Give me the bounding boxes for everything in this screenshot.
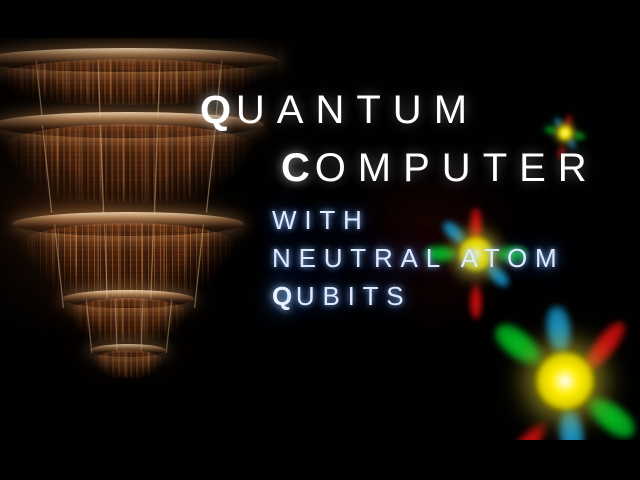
title-rest-computer: OMPUTER (315, 146, 599, 190)
title-cap-q: Q (200, 88, 236, 132)
letterbox-bar-bottom (0, 440, 640, 480)
subtitle-line-with: WITH (272, 205, 370, 236)
title-block: QUANTUM COMPUTER WITH NEUTRAL ATOM QUBIT… (0, 38, 640, 440)
subtitle-text-with: WITH (272, 205, 370, 235)
title-rest-quantum: UANTUM (236, 88, 479, 132)
subtitle-cap-q: Q (272, 281, 296, 311)
video-thumbnail: QUANTUM COMPUTER WITH NEUTRAL ATOM QUBIT… (0, 0, 640, 480)
subtitle-line-neutral-atom: NEUTRAL ATOM (272, 243, 565, 274)
scene: QUANTUM COMPUTER WITH NEUTRAL ATOM QUBIT… (0, 38, 640, 440)
subtitle-line-qubits: QUBITS (272, 281, 411, 312)
subtitle-rest-qubits: UBITS (296, 281, 412, 311)
title-line-computer: COMPUTER (281, 146, 599, 191)
title-line-quantum: QUANTUM (200, 88, 479, 133)
letterbox-bar-top (0, 0, 640, 38)
title-cap-c: C (281, 146, 315, 190)
subtitle-text-neutral-atom: NEUTRAL ATOM (272, 243, 565, 273)
